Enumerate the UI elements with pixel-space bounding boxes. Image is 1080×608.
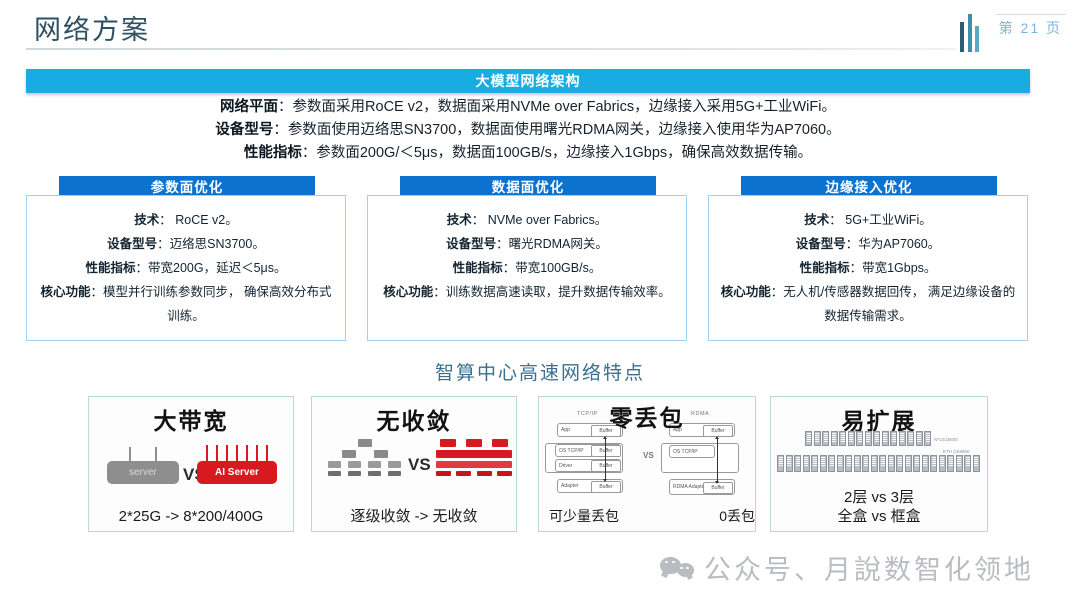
switch-unit xyxy=(777,455,784,472)
summary-line-label: 设备型号 xyxy=(215,122,273,138)
ai-server-icon: AI Server xyxy=(197,461,277,484)
row-label: 设备型号 xyxy=(446,237,496,251)
architecture-banner-title: 大模型网络架构 xyxy=(26,69,1030,93)
switch-unit xyxy=(814,431,821,446)
switch-unit xyxy=(890,431,897,446)
summary-line-text: ：参数面使用迈络思SN3700，数据面使用曙光RDMA网关，边缘接入使用华为AP… xyxy=(273,122,840,138)
column-data-plane: 数据面优化 技术： NVMe over Fabrics。 设备型号：曙光RDMA… xyxy=(367,176,689,344)
switch-unit xyxy=(905,455,912,472)
buffer-box: Buffer xyxy=(591,481,621,493)
summary-line-label: 性能指标 xyxy=(244,145,302,161)
server-icon: server xyxy=(107,461,179,484)
switch-unit xyxy=(913,455,920,472)
row-label: 性能指标 xyxy=(800,261,850,275)
column-row: 技术： NVMe over Fabrics。 xyxy=(368,208,686,232)
card-title: 零丢包 xyxy=(539,399,755,433)
wechat-icon xyxy=(660,555,694,581)
row-value: ：训练数据高速读取，提升数据传输效率。 xyxy=(433,285,671,299)
switch-unit xyxy=(786,455,793,472)
column-row: 技术： 5G+工业WiFi。 xyxy=(709,208,1027,232)
switch-unit xyxy=(956,455,963,472)
card-footer: 2层 vs 3层 全盒 vs 框盒 xyxy=(771,488,987,526)
switch-unit xyxy=(871,455,878,472)
switch-unit xyxy=(794,455,801,472)
column-row: 核心功能：无人机/传感器数据回传， 满足边缘设备的数据传输需求。 xyxy=(709,280,1027,328)
watermark: 公众号、月說数智化领地 xyxy=(660,548,1034,587)
card-title: 大带宽 xyxy=(89,402,293,436)
row-label: 技术 xyxy=(134,213,159,227)
switch-unit xyxy=(939,455,946,472)
architecture-banner: 大模型网络架构 xyxy=(26,69,1030,93)
column-row: 性能指标：带宽1Gbps。 xyxy=(709,256,1027,280)
switch-unit xyxy=(865,431,872,446)
row-label: 核心功能 xyxy=(721,285,771,299)
spine-switch-row xyxy=(805,431,931,446)
row-value: ：模型并行训练参数同步， 确保高效分布式训练。 xyxy=(91,285,332,323)
row-label: 设备型号 xyxy=(107,237,157,251)
switch-unit xyxy=(879,455,886,472)
card-bandwidth: 大带宽 server VS AI Server 2*25G -> 8*200/4… xyxy=(88,396,294,532)
switch-unit xyxy=(916,431,923,446)
column-row: 性能指标：带宽100GB/s。 xyxy=(368,256,686,280)
section-title: 智算中心高速网络特点 xyxy=(0,358,1080,385)
vs-label: VS xyxy=(408,455,431,475)
switch-unit xyxy=(805,431,812,446)
node-label: Driver xyxy=(556,463,572,469)
row-label: 核心功能 xyxy=(41,285,91,299)
card-footer-line1: 2层 vs 3层 xyxy=(771,488,987,507)
feature-cards: 大带宽 server VS AI Server 2*25G -> 8*200/4… xyxy=(0,396,1080,536)
optimisation-columns: 参数面优化 技术： RoCE v2。 设备型号：迈络思SN3700。 性能指标：… xyxy=(26,176,1030,344)
switch-unit xyxy=(924,431,931,446)
switch-unit xyxy=(899,431,906,446)
row-value: ：带宽1Gbps。 xyxy=(850,261,937,275)
row-label: 设备型号 xyxy=(796,237,846,251)
summary-line: 设备型号：参数面使用迈络思SN3700，数据面使用曙光RDMA网关，边缘接入使用… xyxy=(26,119,1030,142)
buffer-label: Buffer xyxy=(599,463,612,469)
summary-line-text: ：参数面采用RoCE v2，数据面采用NVMe over Fabrics，边缘接… xyxy=(278,99,836,115)
buffer-label: Buffer xyxy=(599,448,612,454)
card-footer: 逐级收敛 -> 无收敛 xyxy=(312,507,516,526)
column-row: 设备型号：华为AP7060。 xyxy=(709,232,1027,256)
spine-switch-label: N*CE16800 xyxy=(934,437,958,442)
row-label: 技术 xyxy=(447,213,472,227)
column-body: 技术： RoCE v2。 设备型号：迈络思SN3700。 性能指标：带宽200G… xyxy=(26,195,346,341)
column-row: 设备型号：迈络思SN3700。 xyxy=(27,232,345,256)
column-row: 核心功能：训练数据高速读取，提升数据传输效率。 xyxy=(368,280,686,304)
column-body: 技术： 5G+工业WiFi。 设备型号：华为AP7060。 性能指标：带宽1Gb… xyxy=(708,195,1028,341)
switch-unit xyxy=(930,455,937,472)
column-row: 设备型号：曙光RDMA网关。 xyxy=(368,232,686,256)
row-value: ：迈络思SN3700。 xyxy=(157,237,265,251)
rdma-flow-arrow xyxy=(717,439,718,481)
row-label: 核心功能 xyxy=(383,285,433,299)
column-parameter-plane: 参数面优化 技术： RoCE v2。 设备型号：迈络思SN3700。 性能指标：… xyxy=(26,176,348,344)
switch-unit xyxy=(907,431,914,446)
switch-unit xyxy=(831,431,838,446)
column-body: 技术： NVMe over Fabrics。 设备型号：曙光RDMA网关。 性能… xyxy=(367,195,687,341)
buffer-box: Buffer xyxy=(591,460,621,472)
summary-line: 网络平面：参数面采用RoCE v2，数据面采用NVMe over Fabrics… xyxy=(26,96,1030,119)
card-scalability: 易扩展 N*CE16800 ETH CE6800 2层 vs 3层 全盒 vs … xyxy=(770,396,988,532)
node-label: RDMA Adapter xyxy=(670,484,706,490)
row-value: ：带宽100GB/s。 xyxy=(503,261,602,275)
switch-unit xyxy=(854,455,861,472)
node-label: OS TCP/IP xyxy=(556,448,584,454)
rdma-os-box: OS TCP/IP xyxy=(669,445,715,458)
row-value: ： 5G+工业WiFi。 xyxy=(829,213,931,227)
row-value: ：带宽200G，延迟＜5μs。 xyxy=(136,261,287,275)
switch-unit xyxy=(888,455,895,472)
switch-unit xyxy=(845,455,852,472)
row-value: ：曙光RDMA网关。 xyxy=(496,237,608,251)
switch-unit xyxy=(822,431,829,446)
switch-unit xyxy=(828,455,835,472)
card-nonblocking-art: VS xyxy=(312,435,516,503)
server-icon-label: server xyxy=(107,461,179,484)
switch-unit xyxy=(856,431,863,446)
switch-unit xyxy=(811,455,818,472)
switch-unit xyxy=(947,455,954,472)
card-bandwidth-art: server VS AI Server xyxy=(89,435,293,503)
switch-unit xyxy=(862,455,869,472)
buffer-label: Buffer xyxy=(599,484,612,490)
switch-unit xyxy=(973,455,980,472)
row-value: ：无人机/传感器数据回传， 满足边缘设备的数据传输需求。 xyxy=(771,285,1015,323)
card-scalability-art: N*CE16800 ETH CE6800 xyxy=(771,431,987,475)
leaf-switch-label: ETH CE6800 xyxy=(943,449,970,454)
switch-unit xyxy=(882,431,889,446)
slide-header: 网络方案 第 21 页 xyxy=(0,0,1080,58)
switch-unit xyxy=(873,431,880,446)
card-nonblocking: 无收敛 VS xyxy=(311,396,517,532)
card-title: 无收敛 xyxy=(312,402,516,436)
watermark-text: 公众号、月說数智化领地 xyxy=(704,548,1034,587)
switch-unit xyxy=(839,431,846,446)
column-row: 技术： RoCE v2。 xyxy=(27,208,345,232)
row-value: ： NVMe over Fabrics。 xyxy=(472,213,607,227)
summary-line: 性能指标：参数面200G/＜5μs，数据面100GB/s，边缘接入1Gbps，确… xyxy=(26,142,1030,165)
card-zero-packet-loss: 零丢包 TCP/IP RDMA App Buffer OS TCP/IP Buf… xyxy=(538,396,756,532)
row-value: ： RoCE v2。 xyxy=(159,213,238,227)
leaf-switch-row xyxy=(777,455,980,472)
switch-unit xyxy=(837,455,844,472)
summary-block: 网络平面：参数面采用RoCE v2，数据面采用NVMe over Fabrics… xyxy=(26,96,1030,165)
column-edge-access: 边缘接入优化 技术： 5G+工业WiFi。 设备型号：华为AP7060。 性能指… xyxy=(708,176,1030,344)
column-row: 核心功能：模型并行训练参数同步， 确保高效分布式训练。 xyxy=(27,280,345,328)
row-label: 性能指标 xyxy=(86,261,136,275)
summary-line-text: ：参数面200G/＜5μs，数据面100GB/s，边缘接入1Gbps，确保高效数… xyxy=(302,145,812,161)
tcpip-flow-arrow xyxy=(605,439,606,479)
switch-unit xyxy=(803,455,810,472)
page-number-divider xyxy=(996,14,1066,15)
switch-unit xyxy=(896,455,903,472)
row-label: 性能指标 xyxy=(453,261,503,275)
buffer-box: Buffer xyxy=(591,445,621,457)
page-number: 第 21 页 xyxy=(999,18,1062,38)
node-label: OS TCP/IP xyxy=(670,449,698,455)
page-title: 网络方案 xyxy=(34,8,150,47)
column-row: 性能指标：带宽200G，延迟＜5μs。 xyxy=(27,256,345,280)
card-footer: 2*25G -> 8*200/400G xyxy=(89,507,293,526)
switch-unit xyxy=(848,431,855,446)
title-divider xyxy=(26,48,956,50)
vs-label: VS xyxy=(643,451,654,460)
summary-line-label: 网络平面 xyxy=(220,99,278,115)
ai-server-icon-label: AI Server xyxy=(197,461,277,484)
switch-unit xyxy=(922,455,929,472)
logo-bars-icon xyxy=(960,14,982,52)
card-footer-line2: 全盒 vs 框盒 xyxy=(771,507,987,526)
node-label: Adapter xyxy=(558,483,579,489)
row-value: ：华为AP7060。 xyxy=(846,237,940,251)
row-label: 技术 xyxy=(804,213,829,227)
switch-unit xyxy=(964,455,971,472)
switch-unit xyxy=(820,455,827,472)
card-footer-right: 0丢包 xyxy=(539,507,777,526)
buffer-label: Buffer xyxy=(711,485,724,491)
